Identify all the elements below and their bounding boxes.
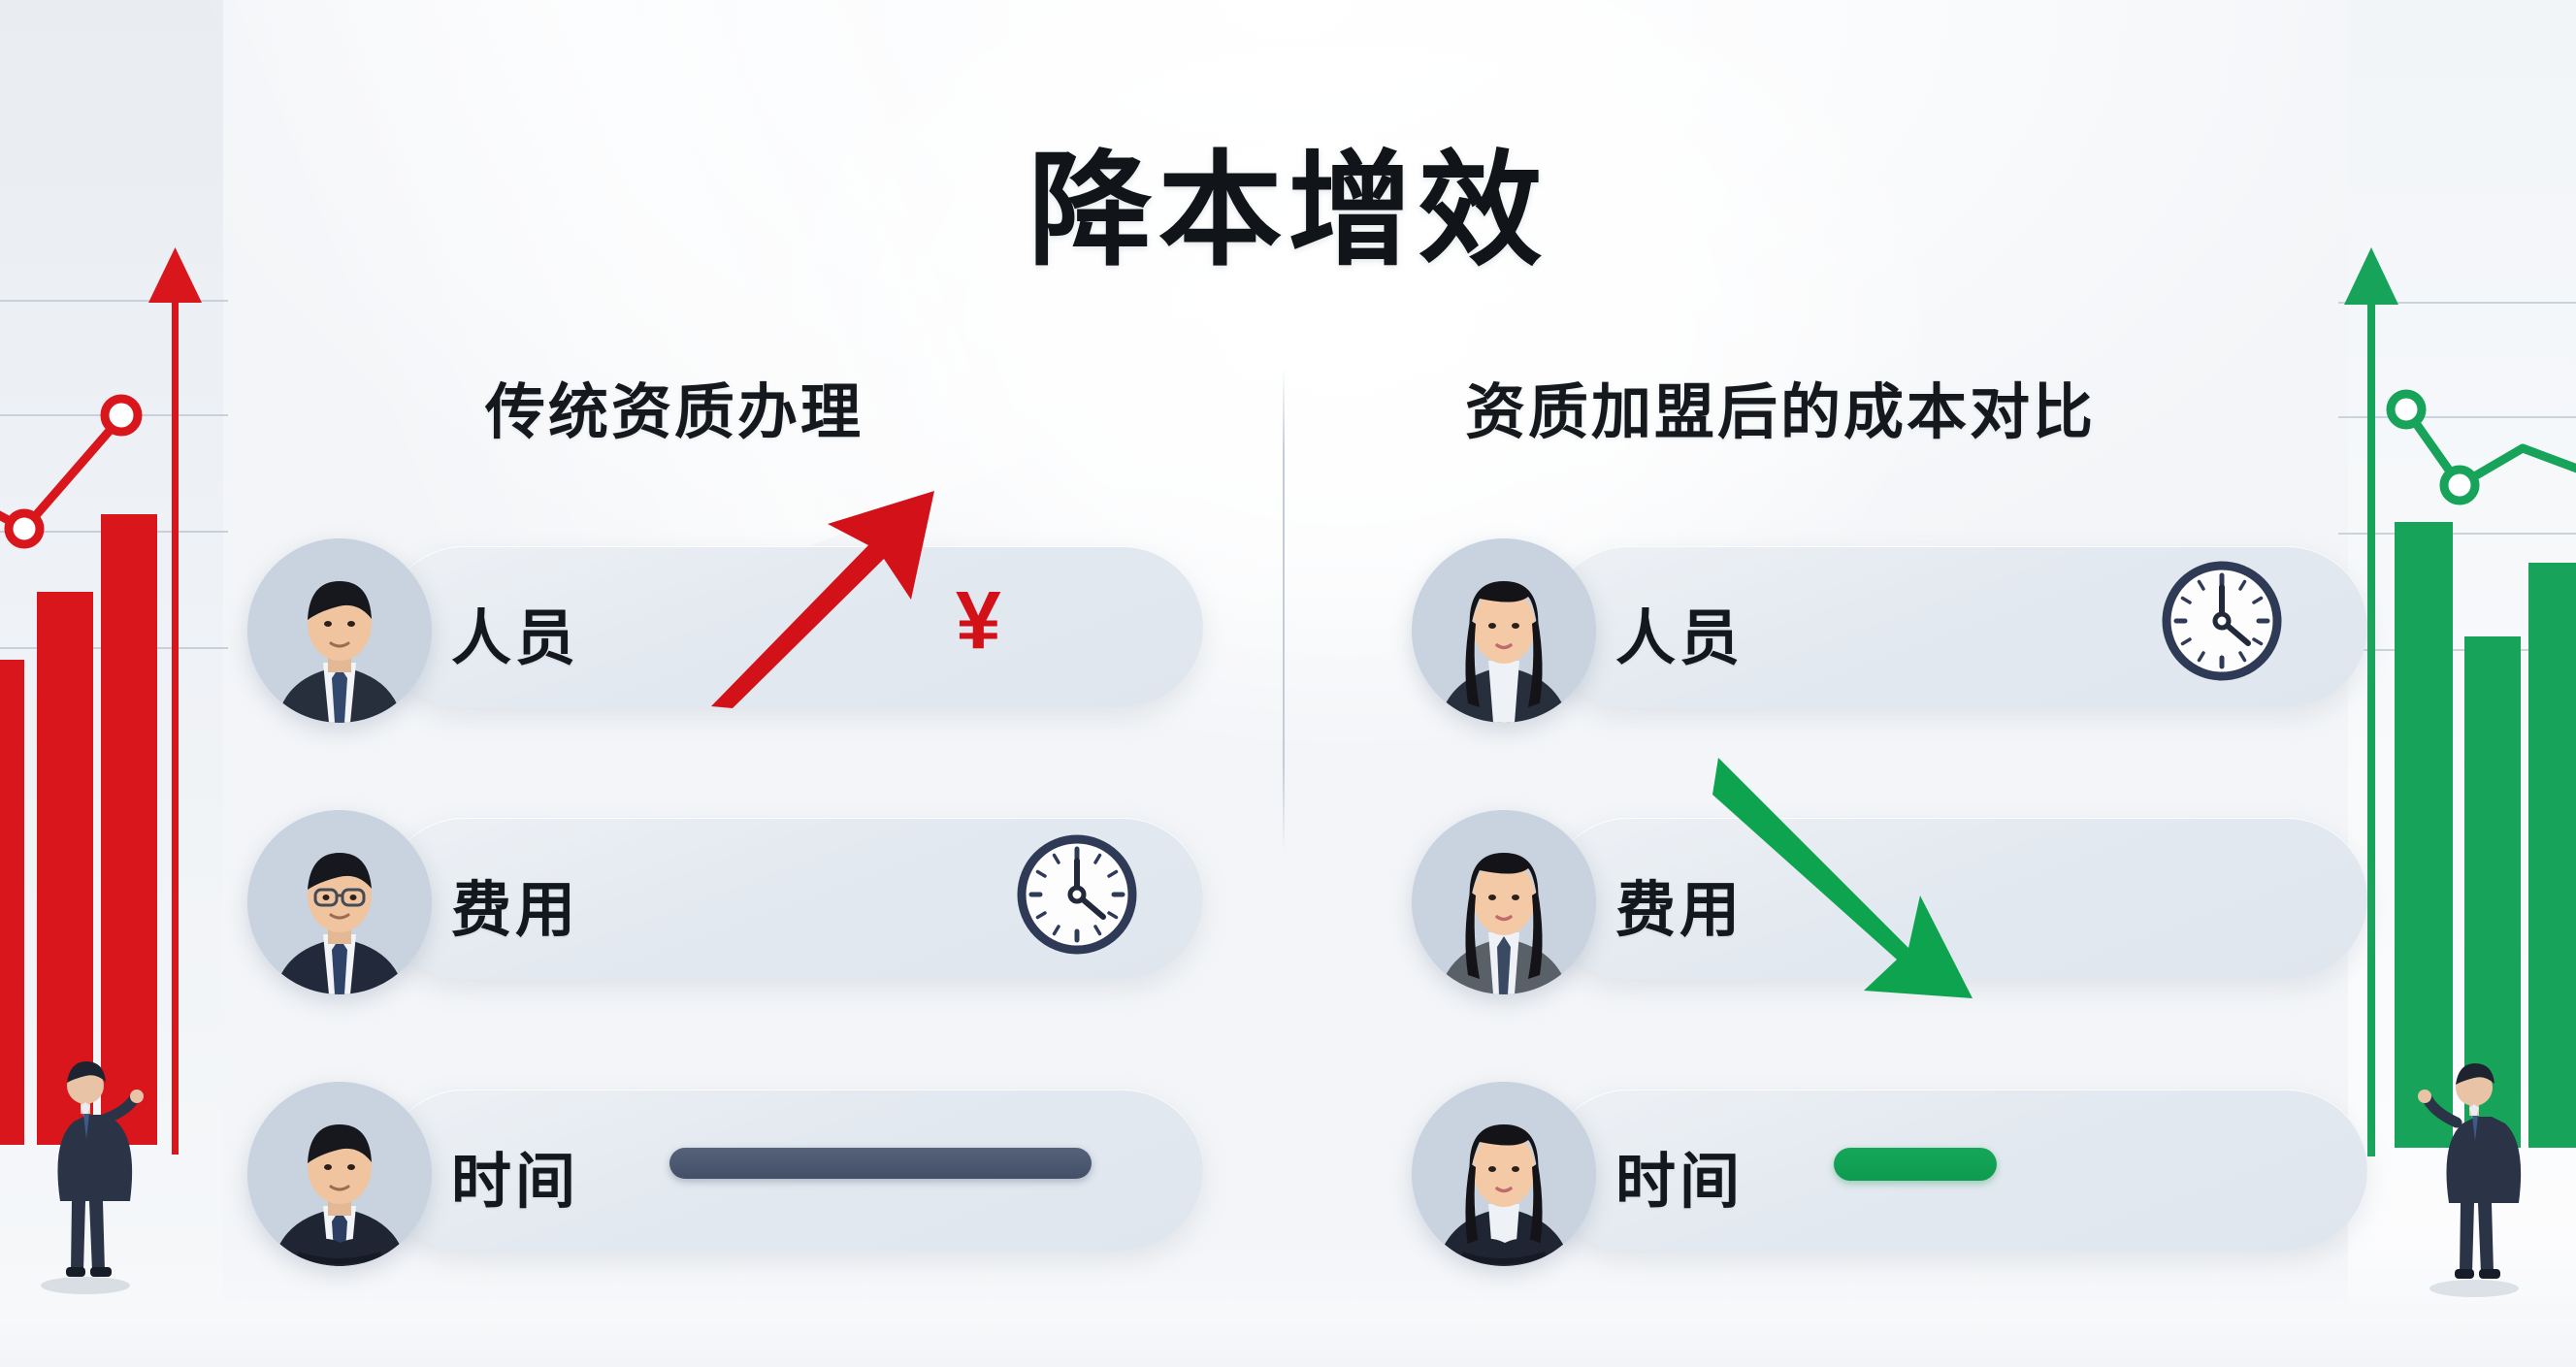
left-row-personnel[interactable]: 人员 ¥ xyxy=(247,538,1203,715)
infographic-canvas: 降本增效 传统资质办理 资质加盟后的成本对比 xyxy=(0,0,2576,1367)
row-label: 费用 xyxy=(451,861,579,948)
left-row-time[interactable]: 时间 xyxy=(247,1082,1203,1258)
short-green-bar xyxy=(1834,1148,1997,1181)
avatar xyxy=(247,538,432,723)
yen-symbol-red: ¥ xyxy=(956,579,1001,661)
background-floor xyxy=(0,1241,2576,1367)
avatar xyxy=(247,810,432,994)
falling-green-chart-decoration xyxy=(2338,243,2576,1367)
right-row-personnel[interactable]: 人员 xyxy=(1412,538,2367,715)
clock-icon xyxy=(1014,831,1140,958)
page-title: 降本增效 xyxy=(0,144,2576,280)
row-label: 时间 xyxy=(451,1132,579,1220)
clock-icon xyxy=(2159,558,2285,684)
right-column-heading: 资质加盟后的成本对比 xyxy=(1465,363,2096,450)
arrow-up-red-icon xyxy=(703,485,946,708)
avatar xyxy=(1412,1082,1596,1266)
right-row-fees[interactable]: 费用 ¥ xyxy=(1412,810,2367,987)
avatar xyxy=(1412,538,1596,723)
column-divider xyxy=(1283,367,1285,852)
rising-red-chart-decoration xyxy=(0,243,228,1367)
right-row-time[interactable]: 时间 xyxy=(1412,1082,2367,1258)
left-row-fees[interactable]: 费用 xyxy=(247,810,1203,987)
row-label: 人员 xyxy=(1615,589,1744,676)
avatar xyxy=(1412,810,1596,994)
avatar xyxy=(247,1082,432,1266)
row-label: 人员 xyxy=(451,589,579,676)
long-dark-bar xyxy=(669,1148,1092,1179)
arrow-down-green-icon xyxy=(1712,752,2004,1004)
left-column-heading: 传统资质办理 xyxy=(485,363,864,450)
row-label: 时间 xyxy=(1615,1132,1744,1220)
